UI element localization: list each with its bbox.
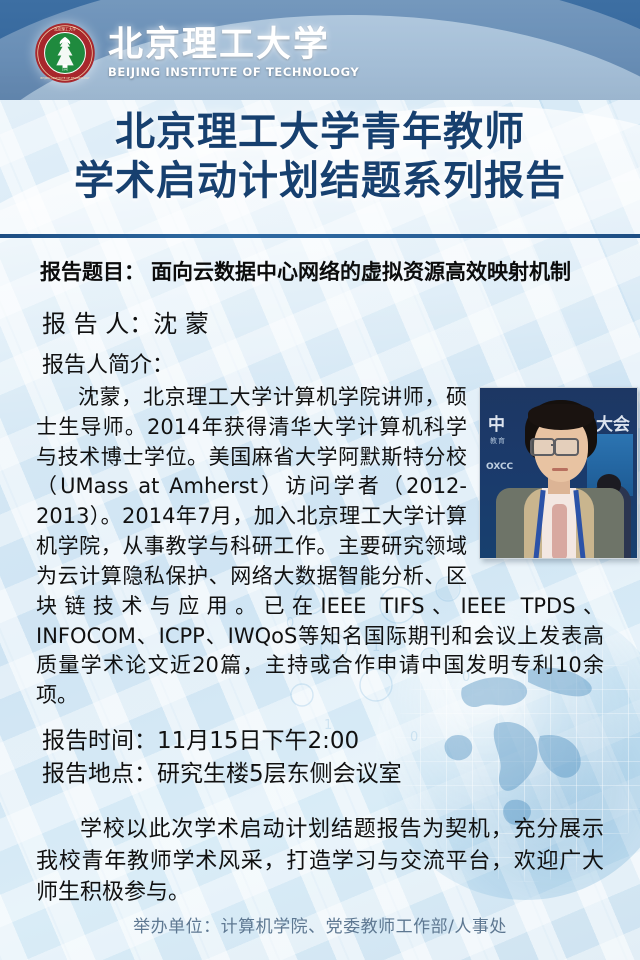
photo-fringe xyxy=(528,404,594,430)
header-divider xyxy=(0,234,640,238)
report-subject-value: 面向云数据中心网络的虚拟资源高效映射机制 xyxy=(151,260,571,284)
photo-mouth xyxy=(552,468,568,471)
university-name-cn: 北京理工大学 xyxy=(108,27,359,62)
photo-backdrop-text-left: 中 xyxy=(488,410,505,435)
photo-tie xyxy=(552,504,567,559)
university-name-block: 北京理工大学 BEIJING INSTITUTE OF TECHNOLOGY xyxy=(108,27,359,79)
university-name-en: BEIJING INSTITUTE OF TECHNOLOGY xyxy=(108,67,359,79)
report-place: 报告地点：研究生楼5层东侧会议室 xyxy=(42,758,640,791)
photo-backdrop-text-right: 大会 xyxy=(596,410,630,435)
report-time: 报告时间：11月15日下午2:00 xyxy=(42,725,640,758)
poster-title-line1: 北京理工大学青年教师 xyxy=(0,108,640,157)
organizer-footer: 举办单位：计算机学院、党委教师工作部/人事处 xyxy=(0,912,640,937)
poster-title: 北京理工大学青年教师 学术启动计划结题系列报告 xyxy=(0,108,640,206)
poster-root: 010 10 北京理工大学 BEIJING INSTITUTE OF TECHN… xyxy=(0,0,640,960)
university-logo-row: 北京理工大学 BEIJING INSTITUTE OF TECHNOLOGY 1… xyxy=(34,22,359,84)
bit-seal-logo-icon: 北京理工大学 BEIJING INSTITUTE OF TECHNOLOGY 1… xyxy=(34,22,96,84)
closing-paragraph: 学校以此次学术启动计划结题报告为契机，充分展示我校青年教师学术风采，打造学习与交… xyxy=(36,814,604,910)
speaker-name-row: 报 告 人：沈 蒙 xyxy=(42,304,640,339)
speaker-intro-label: 报告人简介： xyxy=(42,347,640,379)
photo-glasses-bridge xyxy=(551,444,556,446)
report-subject-row: 报告题目：面向云数据中心网络的虚拟资源高效映射机制 xyxy=(40,256,640,286)
photo-glasses-left xyxy=(530,438,555,456)
photo-backdrop-logo: OXCC xyxy=(486,462,513,472)
speaker-portrait-photo: 中 大会 教育 OXCC xyxy=(479,387,638,559)
photo-backdrop-text-small: 教育 xyxy=(490,436,506,446)
report-meta: 报告时间：11月15日下午2:00 报告地点：研究生楼5层东侧会议室 xyxy=(42,725,640,792)
svg-text:BEIJING INSTITUTE OF TECHNOLOG: BEIJING INSTITUTE OF TECHNOLOGY xyxy=(40,76,90,80)
report-subject-label: 报告题目： xyxy=(40,260,145,284)
svg-text:北京理工大学: 北京理工大学 xyxy=(54,27,77,32)
speaker-bio-wrap: 中 大会 教育 OXCC 沈蒙，北京理 xyxy=(0,383,640,711)
poster-title-line2: 学术启动计划结题系列报告 xyxy=(0,157,640,206)
poster-body: 报告题目：面向云数据中心网络的虚拟资源高效映射机制 报 告 人：沈 蒙 报告人简… xyxy=(0,244,640,909)
svg-text:1940: 1940 xyxy=(62,67,69,71)
photo-glasses-right xyxy=(554,438,579,456)
